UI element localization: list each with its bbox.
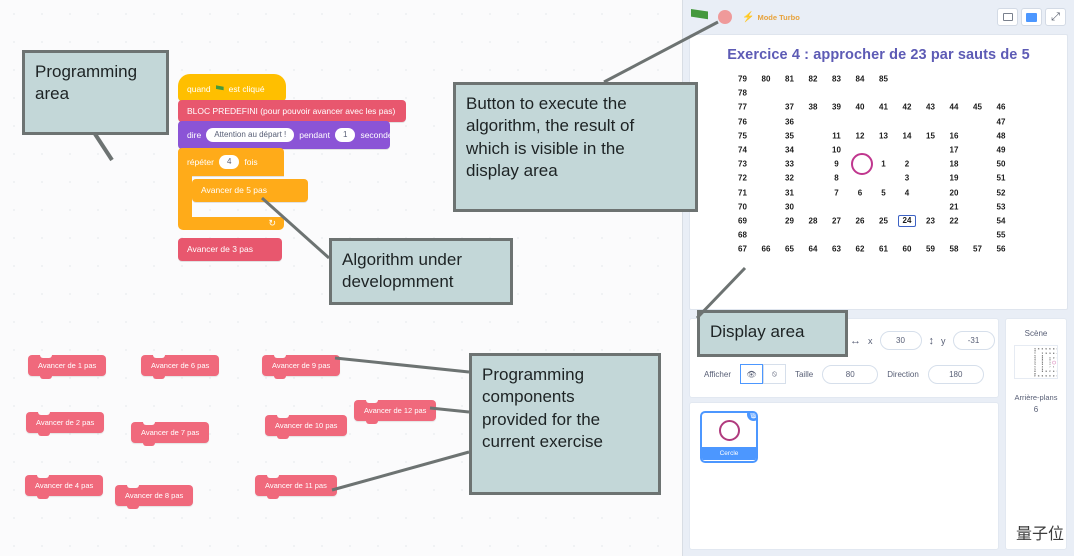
spiral-cell: 36	[781, 117, 799, 126]
script-stack[interactable]: quand est cliqué BLOC PREDEFINI (pour po…	[178, 74, 408, 260]
green-flag-icon	[216, 85, 224, 93]
spiral-cell: 27	[828, 217, 846, 226]
spiral-cell: 41	[1056, 352, 1058, 353]
spiral-cell: 41	[875, 103, 893, 112]
spiral-cell: 33	[1041, 361, 1044, 362]
sprite-x-label: x	[868, 336, 873, 346]
spiral-cell: 55	[992, 231, 1010, 240]
spiral-cell: 73	[734, 160, 752, 169]
spiral-cell: 37	[781, 103, 799, 112]
spiral-cell: 13	[1056, 357, 1058, 358]
spiral-cell: 64	[804, 245, 822, 254]
spiral-cell: 2	[898, 160, 916, 169]
circle-sprite-icon	[719, 420, 740, 441]
turbo-mode-label: Mode Turbo	[757, 13, 799, 22]
spiral-cell: 16	[945, 131, 963, 140]
spiral-cell: 71	[1033, 366, 1036, 367]
palette-block-8[interactable]: Avancer de 4 pas	[25, 475, 103, 496]
spiral-cell: 26	[1052, 370, 1055, 371]
backdrops-count: 6	[1006, 405, 1066, 414]
watermark: 量子位	[1016, 520, 1064, 544]
spiral-cell: 82	[804, 75, 822, 84]
direction-label: Direction	[887, 370, 919, 379]
size-input[interactable]: 80	[822, 365, 878, 384]
spiral-cell: 29	[1041, 370, 1044, 371]
spiral-cell: 12	[1052, 357, 1055, 358]
spiral-cell: 10	[828, 146, 846, 155]
spiral-cell: 13	[875, 131, 893, 140]
block-say-for-seconds[interactable]: dire Attention au départ ! pendant 1 sec…	[178, 121, 390, 149]
spiral-cell: 75	[734, 131, 752, 140]
spiral-cell: 78	[1033, 350, 1036, 351]
spiral-cell: 73	[1033, 361, 1036, 362]
spiral-cell: 33	[781, 160, 799, 169]
spiral-cell: 59	[922, 245, 940, 254]
spiral-cell: 40	[1052, 352, 1055, 353]
spiral-cell: 69	[1033, 370, 1036, 371]
spiral-cell: 4	[898, 188, 916, 197]
spiral-cell: 7	[1048, 366, 1051, 367]
spiral-cell-highlighted: 24	[898, 215, 916, 227]
spiral-cell: 81	[781, 75, 799, 84]
block-when-flag-clicked[interactable]: quand est cliqué	[178, 74, 286, 101]
spiral-cell: 68	[1033, 373, 1036, 374]
spiral-cell: 28	[804, 217, 822, 226]
spiral-cell: 82	[1045, 348, 1048, 349]
spiral-cell: 74	[1033, 359, 1036, 360]
say-seconds-input[interactable]: 1	[335, 128, 355, 142]
spiral-cell: 10	[1048, 359, 1051, 360]
block-when-prefix: quand	[187, 85, 211, 94]
spiral-cell: 31	[781, 188, 799, 197]
large-stage-icon	[1026, 13, 1037, 22]
block-move-5-label: Avancer de 5 pas	[201, 186, 267, 195]
spiral-cell: 52	[992, 188, 1010, 197]
repeat-loop-foot: ↻	[178, 217, 284, 230]
block-move-5-steps[interactable]: Avancer de 5 pas	[192, 179, 308, 202]
spiral-cell: 67	[1033, 375, 1036, 376]
spiral-cell: 63	[828, 245, 846, 254]
spiral-cell: 19	[945, 174, 963, 183]
spiral-cell: 83	[1048, 348, 1051, 349]
spiral-cell: 5	[1056, 366, 1058, 367]
sprite-name-label: Cercle	[702, 447, 756, 460]
show-label: Afficher	[704, 370, 731, 379]
sprite-card-cercle[interactable]: Cercle 🗑	[700, 411, 758, 463]
spiral-cell: 40	[851, 103, 869, 112]
exercise-title: Exercice 4 : approcher de 23 par sauts d…	[690, 47, 1067, 63]
block-say-verb: dire	[187, 131, 201, 140]
spiral-cell: 39	[828, 103, 846, 112]
spiral-cell: 45	[969, 103, 987, 112]
spiral-cell: 5	[875, 188, 893, 197]
spiral-cell: 62	[851, 245, 869, 254]
sprite-controls-row: Afficher 👁 ⦸ Taille 80 Direction 180	[704, 364, 984, 384]
components-note: Programming components provided for the …	[469, 353, 661, 495]
sprite-coordinates: ↔ x 30 ↕ y -31	[850, 331, 995, 350]
spiral-cell: 84	[1052, 348, 1055, 349]
spiral-cell: 11	[1048, 357, 1051, 358]
spiral-cell: 44	[945, 103, 963, 112]
spiral-cell: 39	[1048, 352, 1051, 353]
palette-block-4[interactable]: Avancer de 2 pas	[26, 412, 104, 433]
eye-visible-icon[interactable]: 👁	[740, 364, 763, 384]
spiral-cell: 76	[734, 117, 752, 126]
spiral-cell: 62	[1052, 375, 1055, 376]
block-say-during: pendant	[299, 131, 330, 140]
spiral-cell: 81	[1041, 348, 1044, 349]
spiral-cell: 20	[945, 188, 963, 197]
display-area-note: Display area	[697, 310, 848, 357]
stop-button[interactable]	[718, 10, 732, 24]
block-define-custom[interactable]: BLOC PREDEFINI (pour pouvoir avancer ave…	[178, 100, 406, 123]
spiral-cell: 70	[734, 202, 752, 211]
palette-block-3[interactable]: Avancer de 9 pas	[262, 355, 340, 376]
spiral-cell: 53	[992, 202, 1010, 211]
block-repeat[interactable]: répéter 4 fois	[178, 148, 284, 176]
watermark-text: 量子位	[1016, 520, 1064, 544]
palette-block-7[interactable]: Avancer de 12 pas	[354, 400, 436, 421]
size-label: Taille	[795, 370, 813, 379]
repeat-times-input[interactable]: 4	[219, 155, 239, 169]
backdrop-mini-spiral: 7980818283848578773738394041424344454676…	[1033, 347, 1040, 377]
spiral-cell: 69	[734, 217, 752, 226]
spiral-cell: 14	[898, 131, 916, 140]
spiral-cell: 71	[734, 188, 752, 197]
spiral-cell: 68	[734, 231, 752, 240]
spiral-cell: 76	[1033, 355, 1036, 356]
spiral-cell: 28	[1045, 370, 1048, 371]
spiral-cell: 35	[1041, 357, 1044, 358]
turbo-mode-indicator: ⚡ Mode Turbo	[742, 12, 800, 23]
spiral-cell: 64	[1045, 375, 1048, 376]
fullscreen-icon: ⤢	[1051, 12, 1060, 23]
screenshot-root: quand est cliqué BLOC PREDEFINI (pour po…	[0, 0, 1074, 556]
spiral-cell: 7	[828, 188, 846, 197]
spiral-cell: 85	[875, 75, 893, 84]
repeat-inner-slot: Avancer de 5 pas	[192, 179, 308, 201]
spiral-cell: 37	[1041, 352, 1044, 353]
lightning-bolt-icon: ⚡	[742, 12, 754, 23]
block-move-3-label: Avancer de 3 pas	[187, 245, 253, 254]
spiral-cell: 34	[1041, 359, 1044, 360]
spiral-cell: 72	[1033, 364, 1036, 365]
spiral-cell: 47	[992, 117, 1010, 126]
spiral-cell: 72	[734, 174, 752, 183]
spiral-cell: 9	[828, 160, 846, 169]
spiral-cell: 51	[992, 174, 1010, 183]
spiral-cell: 78	[734, 89, 752, 98]
circle-sprite-marker	[1052, 360, 1056, 364]
spiral-cell: 70	[1033, 368, 1036, 369]
spiral-cell: 22	[945, 217, 963, 226]
spiral-cell: 74	[734, 146, 752, 155]
block-say-unit: secondes	[360, 131, 390, 140]
spiral-cell: 38	[804, 103, 822, 112]
stage-size-controls[interactable]: ⤢	[997, 8, 1066, 26]
spiral-cell: 65	[781, 245, 799, 254]
spiral-cell: 54	[992, 217, 1010, 226]
spiral-cell: 66	[1037, 375, 1040, 376]
block-define-label: BLOC PREDEFINI (pour pouvoir avancer ave…	[187, 107, 395, 116]
spiral-cell: 80	[757, 75, 775, 84]
sprite-x-input[interactable]: 30	[880, 331, 922, 350]
spiral-cell: 36	[1041, 355, 1044, 356]
spiral-cell: 15	[922, 131, 940, 140]
spiral-cell: 1	[875, 160, 893, 169]
spiral-cell: 46	[992, 103, 1010, 112]
spiral-cell: 38	[1045, 352, 1048, 353]
spiral-cell: 27	[1048, 370, 1051, 371]
number-spiral: 7980818283848578773738394041424344454676…	[729, 71, 1029, 256]
block-repeat-verb: répéter	[187, 158, 214, 167]
stage-side-header: Scène	[1006, 319, 1066, 345]
stage-display-area[interactable]: Exercice 4 : approcher de 23 par sauts d…	[689, 34, 1068, 310]
sprite-y-input[interactable]: -31	[953, 331, 995, 350]
stage-backdrop-panel[interactable]: Scène 7980818283848578773738394041424344…	[1005, 318, 1067, 550]
spiral-cell: 25	[1056, 370, 1058, 371]
spiral-cell: 30	[781, 202, 799, 211]
eye-hidden-icon[interactable]: ⦸	[763, 364, 786, 384]
spiral-cell: 12	[851, 131, 869, 140]
palette-block-6[interactable]: Avancer de 10 pas	[265, 415, 347, 436]
spiral-cell: 56	[992, 245, 1010, 254]
spiral-cell: 63	[1048, 375, 1051, 376]
spiral-cell: 60	[898, 245, 916, 254]
spiral-cell: 30	[1041, 368, 1044, 369]
spiral-cell: 61	[1056, 375, 1058, 376]
sprite-list-panel[interactable]: Cercle 🗑	[689, 402, 999, 550]
spiral-cell: 66	[757, 245, 775, 254]
repeat-loop-body: Avancer de 5 pas	[178, 175, 192, 217]
spiral-cell: 1	[1056, 361, 1058, 362]
backdrop-thumbnail[interactable]: 7980818283848578773738394041424344454676…	[1014, 345, 1058, 379]
loop-arrow-icon: ↻	[268, 218, 276, 229]
stage-toolbar: ⚡ Mode Turbo ⤢	[683, 0, 1074, 34]
spiral-cell: 31	[1041, 366, 1044, 367]
small-stage-button[interactable]	[997, 8, 1018, 26]
spiral-cell: 26	[851, 217, 869, 226]
spiral-cell: 58	[945, 245, 963, 254]
spiral-cell: 48	[992, 131, 1010, 140]
direction-input[interactable]: 180	[928, 365, 984, 384]
spiral-cell: 79	[1033, 348, 1036, 349]
spiral-cell: 77	[734, 103, 752, 112]
spiral-cell: 32	[781, 174, 799, 183]
spiral-cell: 6	[851, 188, 869, 197]
palette-block-9[interactable]: Avancer de 8 pas	[115, 485, 193, 506]
spiral-cell: 21	[945, 202, 963, 211]
spiral-cell: 57	[969, 245, 987, 254]
spiral-cell: 9	[1048, 361, 1051, 362]
palette-block-2[interactable]: Avancer de 6 pas	[141, 355, 219, 376]
vertical-arrows-icon: ↕	[929, 335, 935, 347]
palette-block-10[interactable]: Avancer de 11 pas	[255, 475, 337, 496]
block-repeat-unit: fois	[244, 158, 257, 167]
spiral-cell: 29	[781, 217, 799, 226]
palette-block-1[interactable]: Avancer de 1 pas	[28, 355, 106, 376]
spiral-cell: 35	[781, 131, 799, 140]
spiral-cell: 77	[1033, 352, 1036, 353]
spiral-cell: 49	[992, 146, 1010, 155]
spiral-cell: 25	[875, 217, 893, 226]
spiral-cell: 32	[1041, 364, 1044, 365]
execute-button-note: Button to execute the algorithm, the res…	[453, 82, 698, 212]
circle-sprite-marker	[851, 153, 873, 175]
spiral-cell: 6	[1052, 366, 1055, 367]
spiral-cell: 17	[945, 146, 963, 155]
spiral-cell: 11	[828, 131, 846, 140]
spiral-cell: 42	[898, 103, 916, 112]
block-when-suffix: est cliqué	[229, 85, 265, 94]
spiral-cell: 18	[945, 160, 963, 169]
stage-panel: ⚡ Mode Turbo ⤢ Exercice 4 : approcher de…	[683, 0, 1074, 556]
green-flag-button[interactable]	[691, 9, 708, 25]
sprite-y-label: y	[941, 336, 946, 346]
fullscreen-button[interactable]: ⤢	[1045, 8, 1066, 26]
spiral-cell: 80	[1037, 348, 1040, 349]
spiral-cell: 34	[781, 146, 799, 155]
spiral-cell: 79	[734, 75, 752, 84]
programming-area: Programming area	[22, 50, 169, 135]
small-stage-icon	[1003, 13, 1013, 21]
large-stage-button[interactable]	[1021, 8, 1042, 26]
block-move-3-steps[interactable]: Avancer de 3 pas	[178, 238, 282, 261]
spiral-cell: 3	[898, 174, 916, 183]
visibility-toggle[interactable]: 👁 ⦸	[740, 364, 786, 384]
algorithm-note: Algorithm under developmment	[329, 238, 513, 305]
spiral-cell: 65	[1041, 375, 1044, 376]
spiral-cell: 75	[1033, 357, 1036, 358]
spiral-cell: 50	[992, 160, 1010, 169]
spiral-cell: 8	[828, 174, 846, 183]
spiral-cell: 67	[734, 245, 752, 254]
backdrops-label: Arrière-plans	[1006, 393, 1066, 402]
spiral-cell: 85	[1056, 348, 1058, 349]
spiral-cell: 23	[922, 217, 940, 226]
palette-block-5[interactable]: Avancer de 7 pas	[131, 422, 209, 443]
spiral-cell: 43	[922, 103, 940, 112]
spiral-cell: 84	[851, 75, 869, 84]
say-message-input[interactable]: Attention au départ !	[206, 128, 294, 142]
spiral-cell: 8	[1048, 364, 1051, 365]
move-arrows-icon: ↔	[850, 335, 861, 347]
spiral-cell: 61	[875, 245, 893, 254]
spiral-cell: 83	[828, 75, 846, 84]
